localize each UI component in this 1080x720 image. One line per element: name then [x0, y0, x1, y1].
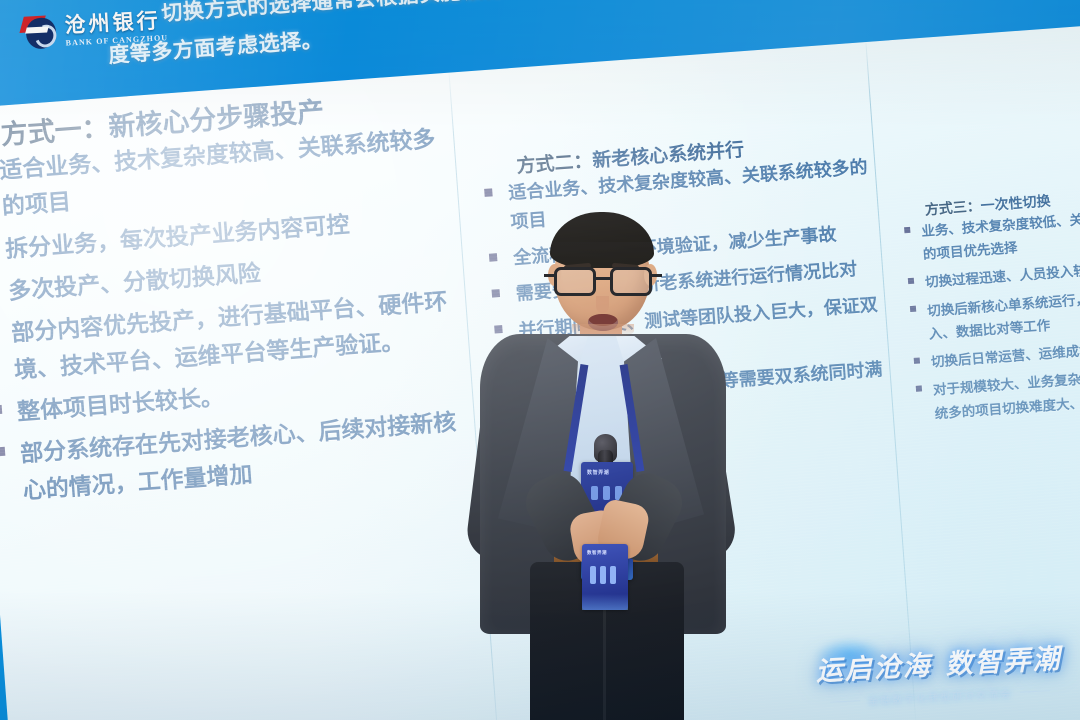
- speaker-chin-shadow: [572, 324, 634, 338]
- slide-column-three: 方式三：一次性切换 业务、技术复杂度较低、关联系统较少的项目优先选择 切换过程迅…: [900, 182, 1080, 431]
- column-three-bullet-list: 业务、技术复杂度较低、关联系统较少的项目优先选择 切换过程迅速、人员投入较少 切…: [902, 202, 1080, 426]
- badge-title-text: 数智弄潮: [587, 550, 607, 556]
- glasses-lens-left: [554, 267, 596, 296]
- list-item-text: 对于规模较大、业务复杂度高、关联系统多的项目切换难度大、切换风险高。: [933, 366, 1080, 421]
- square-bullet-icon: [0, 447, 5, 457]
- glasses-lens-right: [610, 267, 652, 296]
- list-item-text: 多次投产、分散切换风险: [7, 260, 261, 304]
- square-bullet-icon: [904, 226, 910, 232]
- column-one-bullet-list: 适合业务、技术复杂度较高、关联系统较多的项目 拆分业务，每次投产业务内容可控 多…: [0, 120, 467, 510]
- glasses-bridge: [596, 277, 610, 280]
- square-bullet-icon: [910, 306, 916, 312]
- list-item-text: 切换过程迅速、人员投入较少: [925, 262, 1080, 290]
- speaker-figure: 数智弄潮 数智弄潮: [468, 212, 736, 720]
- stage-photo: 方式一：新核心分步骤投产 适合业务、技术复杂度较高、关联系统较多的项目 拆分业务…: [0, 0, 1080, 720]
- square-bullet-icon: [916, 385, 922, 391]
- badge-graphic: [590, 566, 616, 584]
- conference-badge: 数智弄潮: [582, 544, 628, 610]
- microphone-flag-dots: [591, 486, 622, 500]
- badge-footer: [582, 594, 628, 610]
- square-bullet-icon: [908, 278, 914, 284]
- square-bullet-icon: [0, 404, 2, 414]
- column-three-title-prefix: 方式三：: [924, 198, 981, 218]
- square-bullet-icon: [914, 357, 920, 363]
- list-item-text: 切换后新核心单系统运行，无需二次投入、数据比对等工作: [927, 287, 1080, 342]
- glasses-temple-right: [652, 274, 662, 277]
- speaker-hair: [550, 212, 654, 268]
- glasses-temple-left: [544, 274, 554, 277]
- cangzhou-bank-logo-icon: [21, 13, 59, 53]
- event-mark-glow: [815, 638, 885, 672]
- glasses-icon: [552, 267, 654, 297]
- bank-name-cn: 沧州银行: [64, 10, 168, 36]
- list-item-text: 整体项目时长较长。: [16, 384, 224, 425]
- logo-white-stripe: [25, 26, 49, 33]
- list-item-text: 切换后日常运营、运维成本降低: [930, 341, 1080, 370]
- bank-logo-text: 沧州银行 BANK OF CANGZHOU: [64, 10, 168, 47]
- bank-logo: 沧州银行 BANK OF CANGZHOU: [21, 7, 168, 53]
- square-bullet-icon: [484, 188, 493, 197]
- microphone-flag-text: 数智弄潮: [587, 469, 609, 476]
- speaker-nose: [596, 296, 609, 313]
- slide-column-one: 方式一：新核心分步骤投产 适合业务、技术复杂度较高、关联系统较多的项目 拆分业务…: [0, 81, 468, 516]
